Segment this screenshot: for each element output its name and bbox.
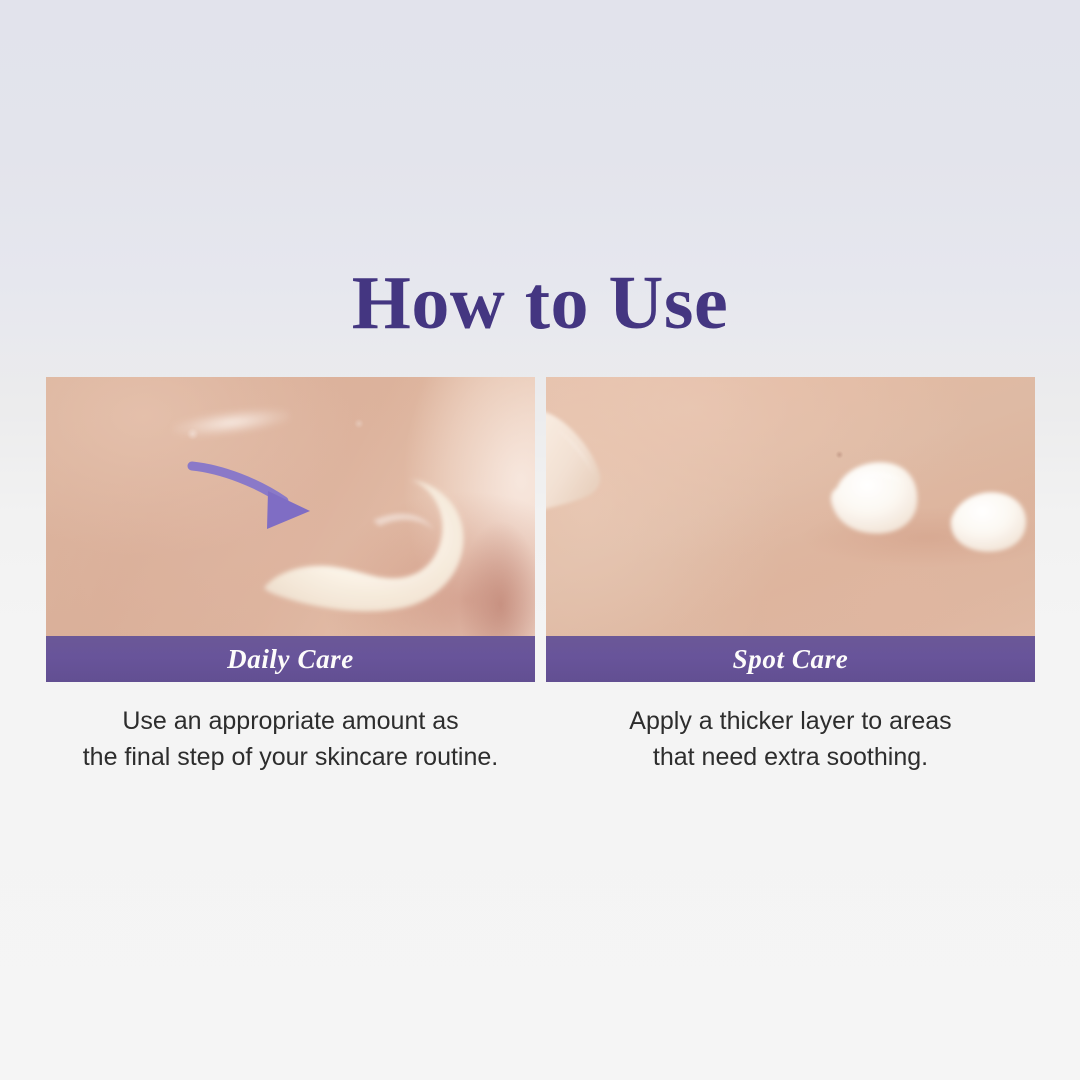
step-description-daily-care: Use an appropriate amount as the final s… xyxy=(46,703,535,775)
direction-arrow-icon xyxy=(46,377,535,636)
description-line: Apply a thicker layer to areas xyxy=(546,703,1035,739)
step-label-spot-care: Spot Care xyxy=(733,644,849,675)
step-photo-spot-care xyxy=(546,377,1035,636)
description-line: Use an appropriate amount as xyxy=(46,703,535,739)
steps-panel-group: Daily Care xyxy=(46,377,1035,682)
step-card-daily-care: Daily Care xyxy=(46,377,535,682)
step-description-spot-care: Apply a thicker layer to areas that need… xyxy=(546,703,1035,775)
step-card-spot-care: Spot Care xyxy=(546,377,1035,682)
step-label-bar-spot-care: Spot Care xyxy=(546,636,1035,682)
fingertip-graphic xyxy=(546,400,619,524)
description-line: the final step of your skincare routine. xyxy=(46,739,535,775)
step-photo-daily-care xyxy=(46,377,535,636)
step-label-daily-care: Daily Care xyxy=(227,644,354,675)
step-label-bar-daily-care: Daily Care xyxy=(46,636,535,682)
page-title: How to Use xyxy=(0,258,1080,348)
how-to-use-infographic: How to Use xyxy=(0,0,1080,1080)
cream-dollops-graphic xyxy=(815,450,1035,574)
step-descriptions-group: Use an appropriate amount as the final s… xyxy=(46,703,1035,775)
description-line: that need extra soothing. xyxy=(546,739,1035,775)
